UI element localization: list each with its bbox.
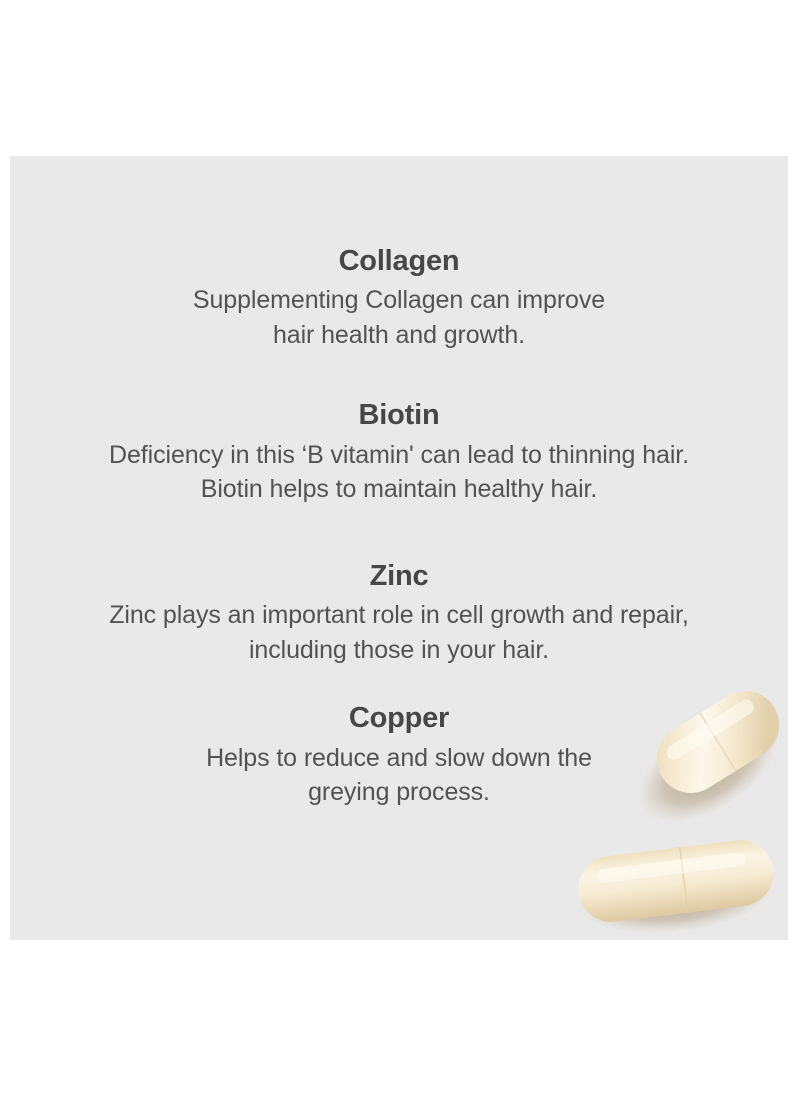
nutrient-entry-collagen: Collagen Supplementing Collagen can impr… — [10, 244, 788, 352]
nutrient-entry-zinc: Zinc Zinc plays an important role in cel… — [10, 559, 788, 667]
nutrient-description-biotin: Deficiency in this ‘B vitamin' can lead … — [24, 438, 774, 507]
nutrient-description-zinc: Zinc plays an important role in cell gro… — [24, 598, 774, 667]
nutrient-list: Collagen Supplementing Collagen can impr… — [10, 156, 788, 810]
nutrient-entry-copper: Copper Helps to reduce and slow down the… — [10, 701, 788, 809]
nutrient-name-copper: Copper — [24, 701, 774, 736]
nutrient-name-biotin: Biotin — [24, 398, 774, 433]
nutrient-info-card: Collagen Supplementing Collagen can impr… — [10, 156, 788, 940]
nutrient-entry-biotin: Biotin Deficiency in this ‘B vitamin' ca… — [10, 398, 788, 506]
nutrient-name-zinc: Zinc — [24, 559, 774, 594]
nutrient-description-copper: Helps to reduce and slow down the greyin… — [24, 741, 774, 810]
product-benefits-graphic: Collagen Supplementing Collagen can impr… — [0, 0, 800, 1096]
capsule-shadow-lower — [577, 854, 775, 940]
capsule-lower — [575, 836, 778, 925]
nutrient-name-collagen: Collagen — [24, 244, 774, 279]
nutrient-description-collagen: Supplementing Collagen can improve hair … — [24, 283, 774, 352]
